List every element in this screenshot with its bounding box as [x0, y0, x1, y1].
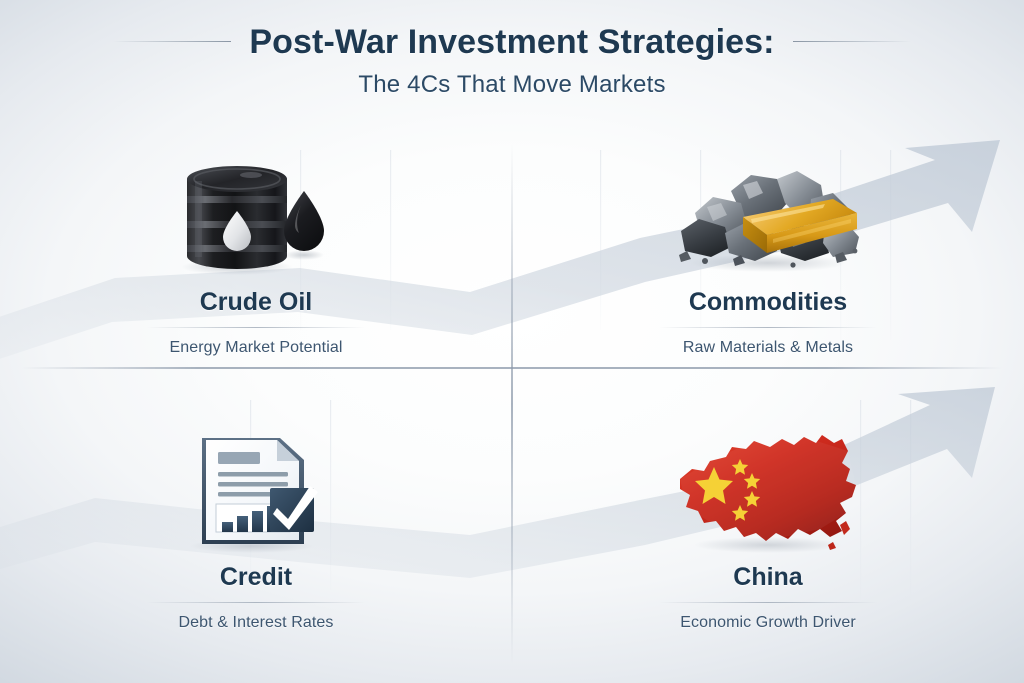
infographic-canvas: Post-War Investment Strategies: The 4Cs … — [0, 0, 1024, 683]
document-chart-check-icon — [176, 430, 336, 554]
quadrant-subtitle: Economic Growth Driver — [680, 614, 856, 632]
quadrant-subtitle: Energy Market Potential — [169, 339, 342, 357]
oil-barrel-icon — [171, 155, 341, 279]
quadrant-title: China — [733, 563, 802, 592]
quadrant-title: Credit — [220, 563, 292, 592]
quadrant-title: Commodities — [689, 288, 847, 317]
china-map-flag-icon — [670, 429, 866, 555]
quadrant-grid: Crude Oil Energy Market Potential — [0, 134, 1024, 683]
header: Post-War Investment Strategies: The 4Cs … — [0, 0, 1024, 134]
quadrant-subtitle: Debt & Interest Rates — [178, 614, 333, 632]
quadrant-subtitle: Raw Materials & Metals — [683, 339, 853, 357]
title-rule-right — [793, 41, 911, 42]
icon-wrap — [176, 427, 336, 557]
page-title: Post-War Investment Strategies: — [249, 23, 774, 62]
quadrant-crude-oil[interactable]: Crude Oil Energy Market Potential — [0, 134, 512, 409]
quadrant-china[interactable]: China Economic Growth Driver — [512, 409, 1024, 683]
quadrant-rule — [147, 602, 365, 603]
icon-wrap — [670, 427, 866, 557]
quadrant-rule — [659, 327, 877, 328]
title-rule-left — [113, 41, 231, 42]
page-subtitle: The 4Cs That Move Markets — [0, 71, 1024, 99]
quadrant-title: Crude Oil — [200, 288, 313, 317]
gold-bar-and-ore-icon — [673, 155, 863, 279]
quadrant-rule — [147, 327, 365, 328]
quadrant-commodities[interactable]: Commodities Raw Materials & Metals — [512, 134, 1024, 409]
icon-wrap — [171, 152, 341, 282]
title-row: Post-War Investment Strategies: — [0, 0, 1024, 62]
quadrant-credit[interactable]: Credit Debt & Interest Rates — [0, 409, 512, 683]
quadrant-rule — [659, 602, 877, 603]
icon-wrap — [673, 152, 863, 282]
